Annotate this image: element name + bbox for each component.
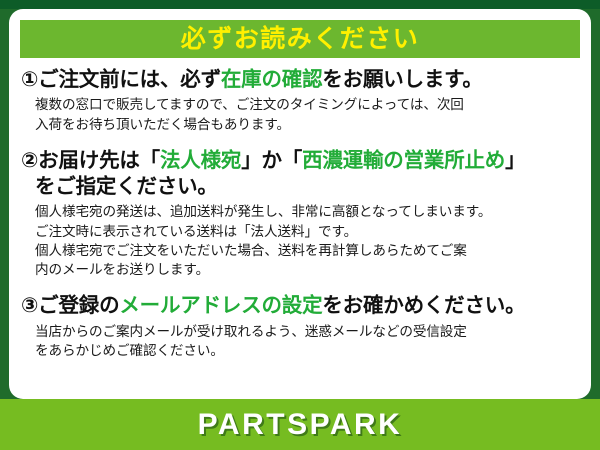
item-3-body: 当店からのご案内メールが受け取れるよう、迷惑メールなどの受信設定 をあらかじめご… [35,322,579,361]
item-3-heading-after: をお確かめください。 [322,294,525,317]
notice-banner: 必ずお読みください [20,20,580,58]
item-3-heading-highlight: メールアドレスの設定 [119,294,322,317]
brand-wordmark: PARTSPARK [198,410,403,440]
item-2-body-line-1: 個人様宅宛の発送は、追加送料が発生し、非常に高額となってしまいます。 [35,202,579,221]
item-2-body-line-4: 内のメールをお送りします。 [35,260,579,279]
item-3-heading-before: ご登録の [38,294,119,317]
item-1-heading-before: ご注文前には、必ず [38,68,221,91]
item-3-body-line-2: をあらかじめご確認ください。 [35,341,579,360]
item-3-body-line-1: 当店からのご案内メールが受け取れるよう、迷惑メールなどの受信設定 [35,322,579,341]
item-1-body-line-2: 入荷をお待ち頂いただく場合もあります。 [35,115,579,134]
item-2-body-line-2: ご注文時に表示されている送料は「法人送料」です。 [35,222,579,241]
item-2-body-line-3: 個人様宅宛でご注文をいただいた場合、送料を再計算しあらためてご案 [35,241,579,260]
item-2-marker: ② [21,149,38,172]
notice-item-2: ②お届け先は「法人様宛」か「西濃運輸の営業所止め」 をご指定ください。 個人様宅… [21,148,579,280]
notice-frame: 必ずお読みください ①ご注文前には、必ず在庫の確認をお願いします。 複数の窓口で… [0,0,600,450]
notice-item-1: ①ご注文前には、必ず在庫の確認をお願いします。 複数の窓口で販売してますので、ご… [21,67,579,134]
item-2-heading-after: 」 [505,149,525,172]
item-1-body: 複数の窓口で販売してますので、ご注文のタイミングによっては、次回 入荷をお待ち頂… [35,95,579,134]
notice-content: ①ご注文前には、必ず在庫の確認をお願いします。 複数の窓口で販売してますので、ご… [9,65,591,364]
item-1-marker: ① [21,68,38,91]
notice-panel: 必ずお読みください ①ご注文前には、必ず在庫の確認をお願いします。 複数の窓口で… [9,9,591,399]
item-2-heading-line-2: をご指定ください。 [35,174,579,200]
item-3-heading: ③ご登録のメールアドレスの設定をお確かめください。 [21,293,579,319]
banner-title: 必ずお読みください [181,27,420,52]
item-3-marker: ③ [21,294,38,317]
item-1-body-line-1: 複数の窓口で販売してますので、ご注文のタイミングによっては、次回 [35,95,579,114]
item-1-heading-highlight: 在庫の確認 [221,68,323,91]
item-2-heading-mid: 」か「 [241,149,302,172]
item-2-heading-highlight: 法人様宛 [160,149,241,172]
item-2-heading-before: お届け先は「 [38,149,160,172]
notice-item-3: ③ご登録のメールアドレスの設定をお確かめください。 当店からのご案内メールが受け… [21,293,579,360]
item-1-heading: ①ご注文前には、必ず在庫の確認をお願いします。 [21,67,579,93]
item-1-heading-after: をお願いします。 [322,68,482,91]
item-2-heading-highlight-2: 西濃運輸の営業所止め [302,149,505,172]
item-2-heading: ②お届け先は「法人様宛」か「西濃運輸の営業所止め」 [21,148,579,174]
item-2-body: 個人様宅宛の発送は、追加送料が発生し、非常に高額となってしまいます。 ご注文時に… [35,202,579,279]
brand-footer: PARTSPARK [0,399,600,450]
